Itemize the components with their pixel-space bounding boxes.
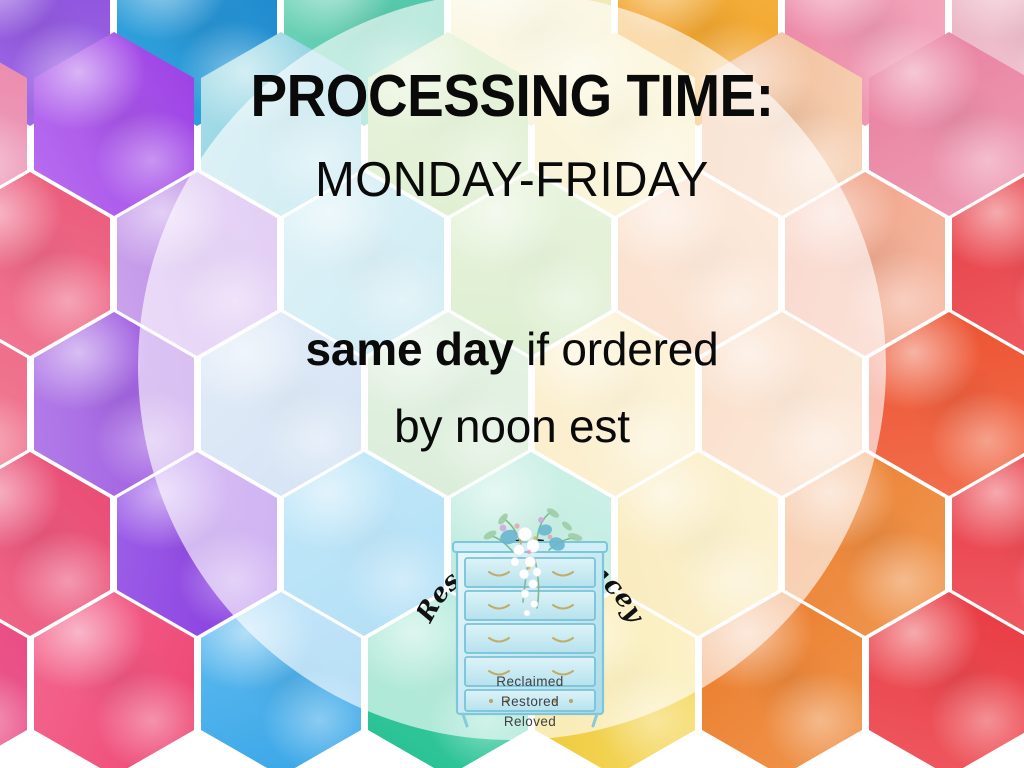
body-line-2: by noon est (0, 399, 1024, 453)
page-title: PROCESSING TIME: (36, 62, 988, 130)
processing-time-banner: PROCESSING TIME: MONDAY-FRIDAY same day … (0, 0, 1024, 768)
tagline-line-2: Restored (501, 694, 559, 709)
tagline-line-1: Reclaimed (496, 674, 563, 689)
same-day-emphasis: same day (305, 323, 513, 375)
brand-logo: Rescued by Lacey (417, 482, 643, 734)
if-ordered-text: if ordered (514, 323, 719, 375)
subtitle-days: MONDAY-FRIDAY (15, 152, 1008, 208)
tagline-line-3: Reloved (504, 714, 556, 729)
brand-tagline: Reclaimed Restored Reloved (496, 674, 563, 729)
body-line-1: same day if ordered (0, 322, 1024, 376)
